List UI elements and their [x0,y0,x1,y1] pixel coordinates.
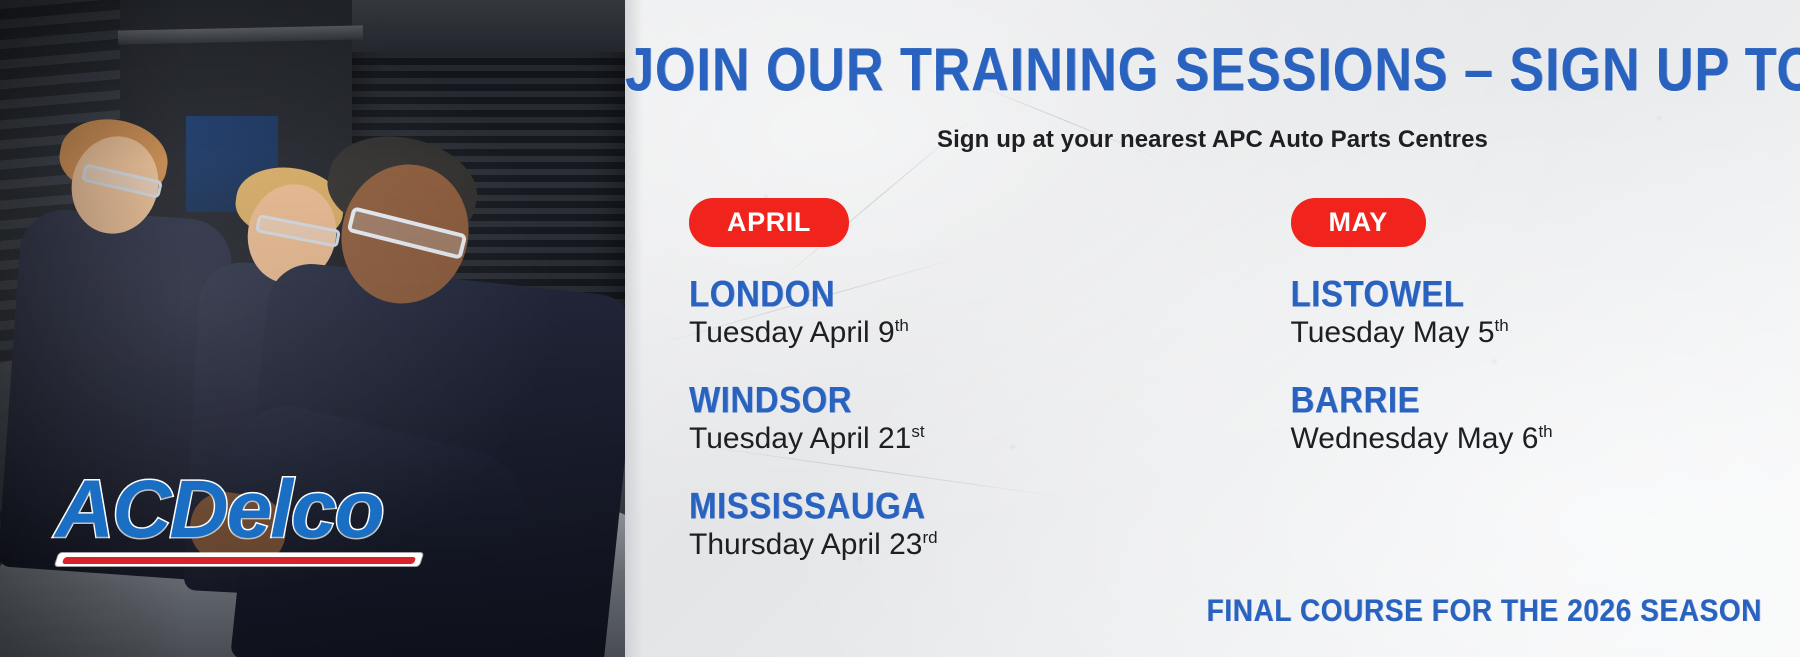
session-weekday: Wednesday [1291,422,1449,455]
session-day: 6 [1522,422,1539,455]
session-date: Wednesday May 6th [1291,423,1800,455]
session-ordinal: th [895,316,909,335]
session-item[interactable]: BARRIE Wednesday May 6th [1291,381,1800,455]
session-day: 23 [889,528,922,561]
session-list-may: LISTOWEL Tuesday May 5th BARRIE Wednesda… [1291,275,1800,455]
schedule-columns: APRIL LONDON Tuesday April 9th WINDSOR [625,198,1800,593]
acdelco-wordmark: ACDelco [55,467,427,553]
session-day: 5 [1478,316,1495,349]
session-ordinal: rd [922,528,937,547]
session-day: 21 [878,422,911,455]
session-month: April [810,422,870,455]
acdelco-logo-bar-red [62,557,416,564]
acdelco-logo: ACDelco [55,467,427,579]
session-month: May [1457,422,1514,455]
training-sessions-banner: ACDelco JOIN OUR TRAINING SESSIONS – SIG… [0,0,1800,657]
session-ordinal: st [911,422,924,441]
session-month: April [810,316,870,349]
session-city: MISSISSAUGA [689,487,1213,524]
session-item[interactable]: WINDSOR Tuesday April 21st [689,381,1213,455]
headline-text: JOIN OUR TRAINING SESSIONS – SIGN UP TOD… [625,42,1800,99]
month-column-may: MAY LISTOWEL Tuesday May 5th BARRIE W [1213,198,1800,593]
session-item[interactable]: LISTOWEL Tuesday May 5th [1291,275,1800,349]
headline: JOIN OUR TRAINING SESSIONS – SIGN UP TOD… [625,42,1800,90]
footer-note: FINAL COURSE FOR THE 2026 SEASON [1207,593,1762,629]
hero-photo: ACDelco [0,0,625,657]
session-city: BARRIE [1291,381,1800,418]
session-month: April [821,528,881,561]
session-weekday: Tuesday [689,316,803,349]
session-city: LISTOWEL [1291,275,1800,312]
session-item[interactable]: MISSISSAUGA Thursday April 23rd [689,487,1213,561]
subheadline: Sign up at your nearest APC Auto Parts C… [625,126,1800,154]
session-date: Tuesday April 21st [689,423,1213,455]
session-date: Thursday April 23rd [689,529,1213,561]
session-weekday: Thursday [689,528,814,561]
session-ordinal: th [1538,422,1552,441]
session-day: 9 [878,316,895,349]
session-weekday: Tuesday [689,422,803,455]
month-badge-april: APRIL [689,198,849,247]
session-city: WINDSOR [689,381,1213,418]
session-ordinal: th [1495,316,1509,335]
content-panel: JOIN OUR TRAINING SESSIONS – SIGN UP TOD… [625,0,1800,657]
session-month: May [1413,316,1470,349]
session-city: LONDON [689,275,1213,312]
session-list-april: LONDON Tuesday April 9th WINDSOR Tuesday… [689,275,1213,561]
month-badge-may: MAY [1291,198,1426,247]
month-column-april: APRIL LONDON Tuesday April 9th WINDSOR [625,198,1213,593]
session-weekday: Tuesday [1291,316,1405,349]
session-item[interactable]: LONDON Tuesday April 9th [689,275,1213,349]
session-date: Tuesday April 9th [689,317,1213,349]
session-date: Tuesday May 5th [1291,317,1800,349]
